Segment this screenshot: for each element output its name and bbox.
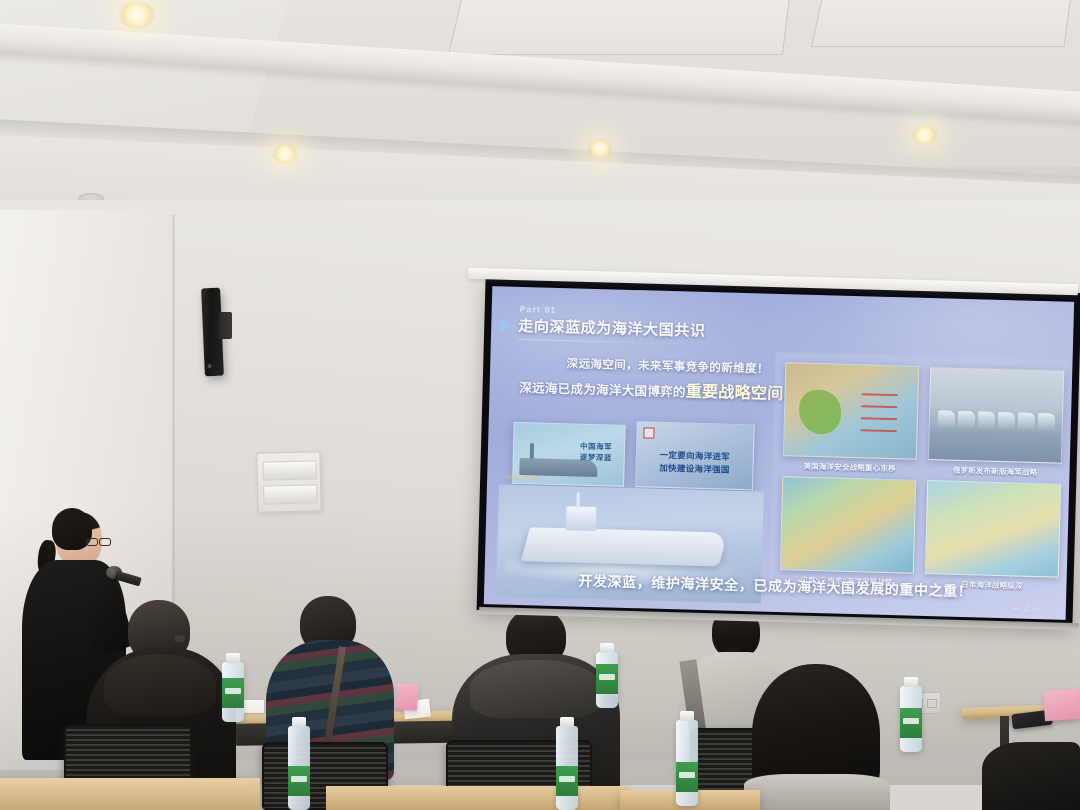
water-bottle-2[interactable] <box>288 726 310 810</box>
card-a-line2: 逐梦深蓝 <box>580 452 612 464</box>
projection-screen[interactable]: Part 01 走向深蓝成为海洋大国共识 深远海空间，未来军事竞争的新维度！ 深… <box>477 277 1080 626</box>
slide-photo-3 <box>780 476 916 574</box>
ceiling <box>0 0 1080 232</box>
ceiling-downlight-icon <box>912 126 937 144</box>
card-b-line2: 加快建设海洋强国 <box>636 461 752 477</box>
card-a-text: 中国海军 逐梦深蓝 <box>580 441 613 464</box>
headline-2-prefix: 深远海已成为海洋大国博弈的 <box>519 381 686 399</box>
card-a-line1: 中国海军 <box>580 441 612 453</box>
flag-icon <box>643 427 654 438</box>
pink-folder-left <box>395 683 419 711</box>
desk-front-center <box>326 786 626 810</box>
attendee-3-hood <box>470 660 602 718</box>
ceiling-panel <box>448 0 793 55</box>
water-bottle-5[interactable] <box>676 720 698 806</box>
slide-photo-4 <box>925 480 1061 578</box>
water-bottle-6[interactable] <box>900 686 922 752</box>
water-bottle-1[interactable] <box>222 662 244 722</box>
ceiling-panel <box>811 0 1075 47</box>
slide-photo-1 <box>783 362 919 460</box>
slide-page-number: — 2 — <box>1012 603 1042 613</box>
conference-room-photo: Part 01 走向深蓝成为海洋大国共识 深远海空间，未来军事竞争的新维度！ 深… <box>0 0 1080 810</box>
slide-card-maritime-power: 一定要向海洋进军 加快建设海洋强国 <box>635 421 755 490</box>
wall-air-vent <box>256 451 321 513</box>
desk-front-left <box>0 778 260 810</box>
presentation-slide: Part 01 走向深蓝成为海洋大国共识 深远海空间，未来军事竞争的新维度！ 深… <box>484 286 1074 620</box>
attendee-6-shoulder <box>982 742 1080 810</box>
title-triangle-icon <box>500 318 513 332</box>
carrier-caption: 中国航母编队 <box>505 473 541 483</box>
speaker-bracket <box>219 312 232 339</box>
slide-photo-2 <box>928 366 1064 464</box>
ceiling-downlight-icon <box>272 145 298 163</box>
ceiling-downlight-icon <box>118 2 156 28</box>
pink-folder-right <box>1043 689 1080 721</box>
water-bottle-3[interactable] <box>556 726 578 810</box>
attendee-5-body <box>744 774 890 810</box>
water-bottle-4[interactable] <box>596 652 618 708</box>
attendee-1-hood <box>104 654 216 716</box>
card-b-text: 一定要向海洋进军 加快建设海洋强国 <box>636 448 753 477</box>
ceiling-downlight-icon <box>588 140 612 157</box>
slide-part-label: Part 01 <box>520 304 557 315</box>
paper-left-edge <box>242 700 264 713</box>
